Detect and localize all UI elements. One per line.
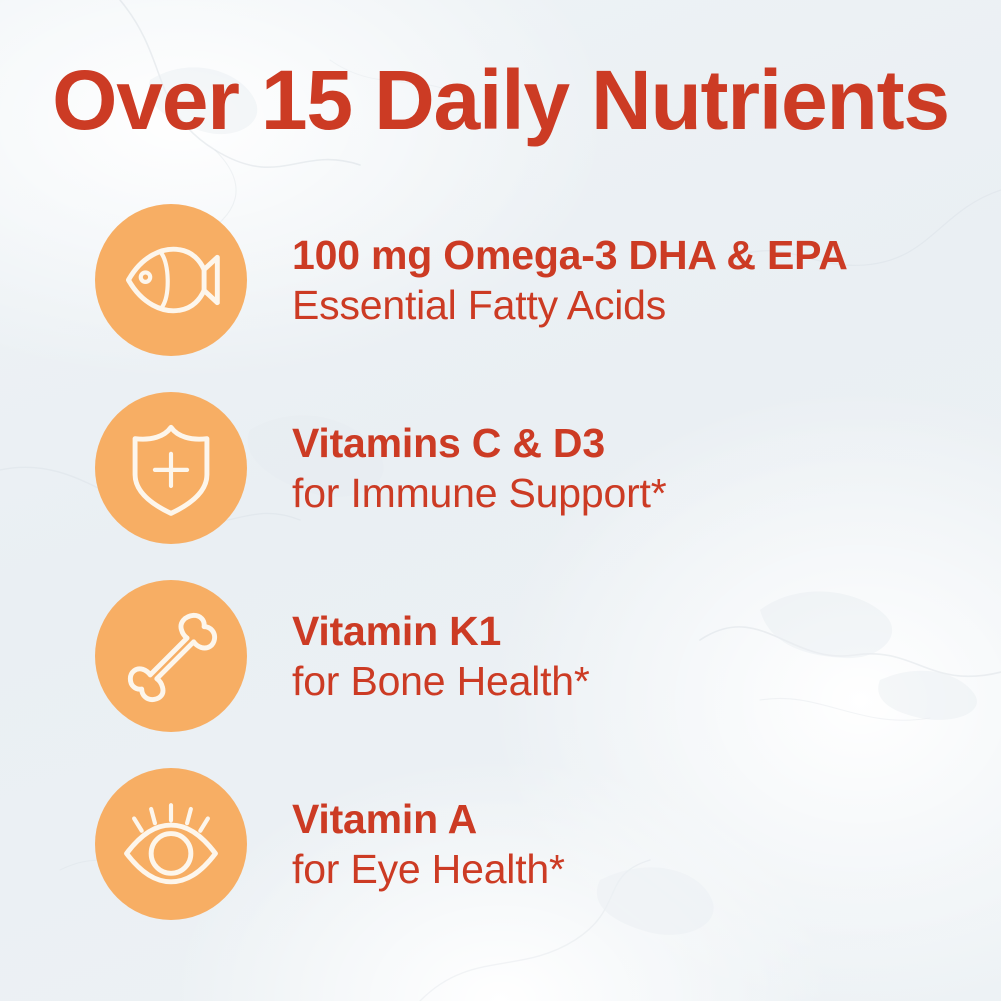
benefit-text-eye: Vitamin A for Eye Health* [292, 795, 565, 894]
benefit-row-bone: Vitamin K1 for Bone Health* [0, 562, 1001, 750]
benefit-row-immune: Vitamins C & D3 for Immune Support* [0, 374, 1001, 562]
benefit-title: Vitamin A [292, 795, 565, 843]
shield-plus-icon [119, 416, 223, 520]
benefit-subtitle: for Immune Support* [292, 469, 667, 517]
benefit-row-eye: Vitamin A for Eye Health* [0, 750, 1001, 938]
eye-icon [119, 792, 223, 896]
benefit-title: Vitamin K1 [292, 607, 590, 655]
fish-icon-badge [95, 204, 247, 356]
benefit-text-omega-3: 100 mg Omega-3 DHA & EPA Essential Fatty… [292, 231, 848, 330]
benefit-text-bone: Vitamin K1 for Bone Health* [292, 607, 590, 706]
benefit-text-immune: Vitamins C & D3 for Immune Support* [292, 419, 667, 518]
benefit-row-omega-3: 100 mg Omega-3 DHA & EPA Essential Fatty… [0, 186, 1001, 374]
benefit-title: Vitamins C & D3 [292, 419, 667, 467]
eye-icon-badge [95, 768, 247, 920]
benefit-subtitle: for Eye Health* [292, 845, 565, 893]
benefits-list: 100 mg Omega-3 DHA & EPA Essential Fatty… [0, 186, 1001, 938]
bone-icon [119, 604, 223, 708]
benefit-title: 100 mg Omega-3 DHA & EPA [292, 231, 848, 279]
shield-plus-icon-badge [95, 392, 247, 544]
benefit-subtitle: for Bone Health* [292, 657, 590, 705]
nutrient-benefits-graphic: Over 15 Daily Nutrients 100 mg Omega-3 D… [0, 0, 1001, 1001]
fish-icon [119, 228, 223, 332]
page-title: Over 15 Daily Nutrients [0, 58, 1001, 142]
benefit-subtitle: Essential Fatty Acids [292, 281, 848, 329]
bone-icon-badge [95, 580, 247, 732]
